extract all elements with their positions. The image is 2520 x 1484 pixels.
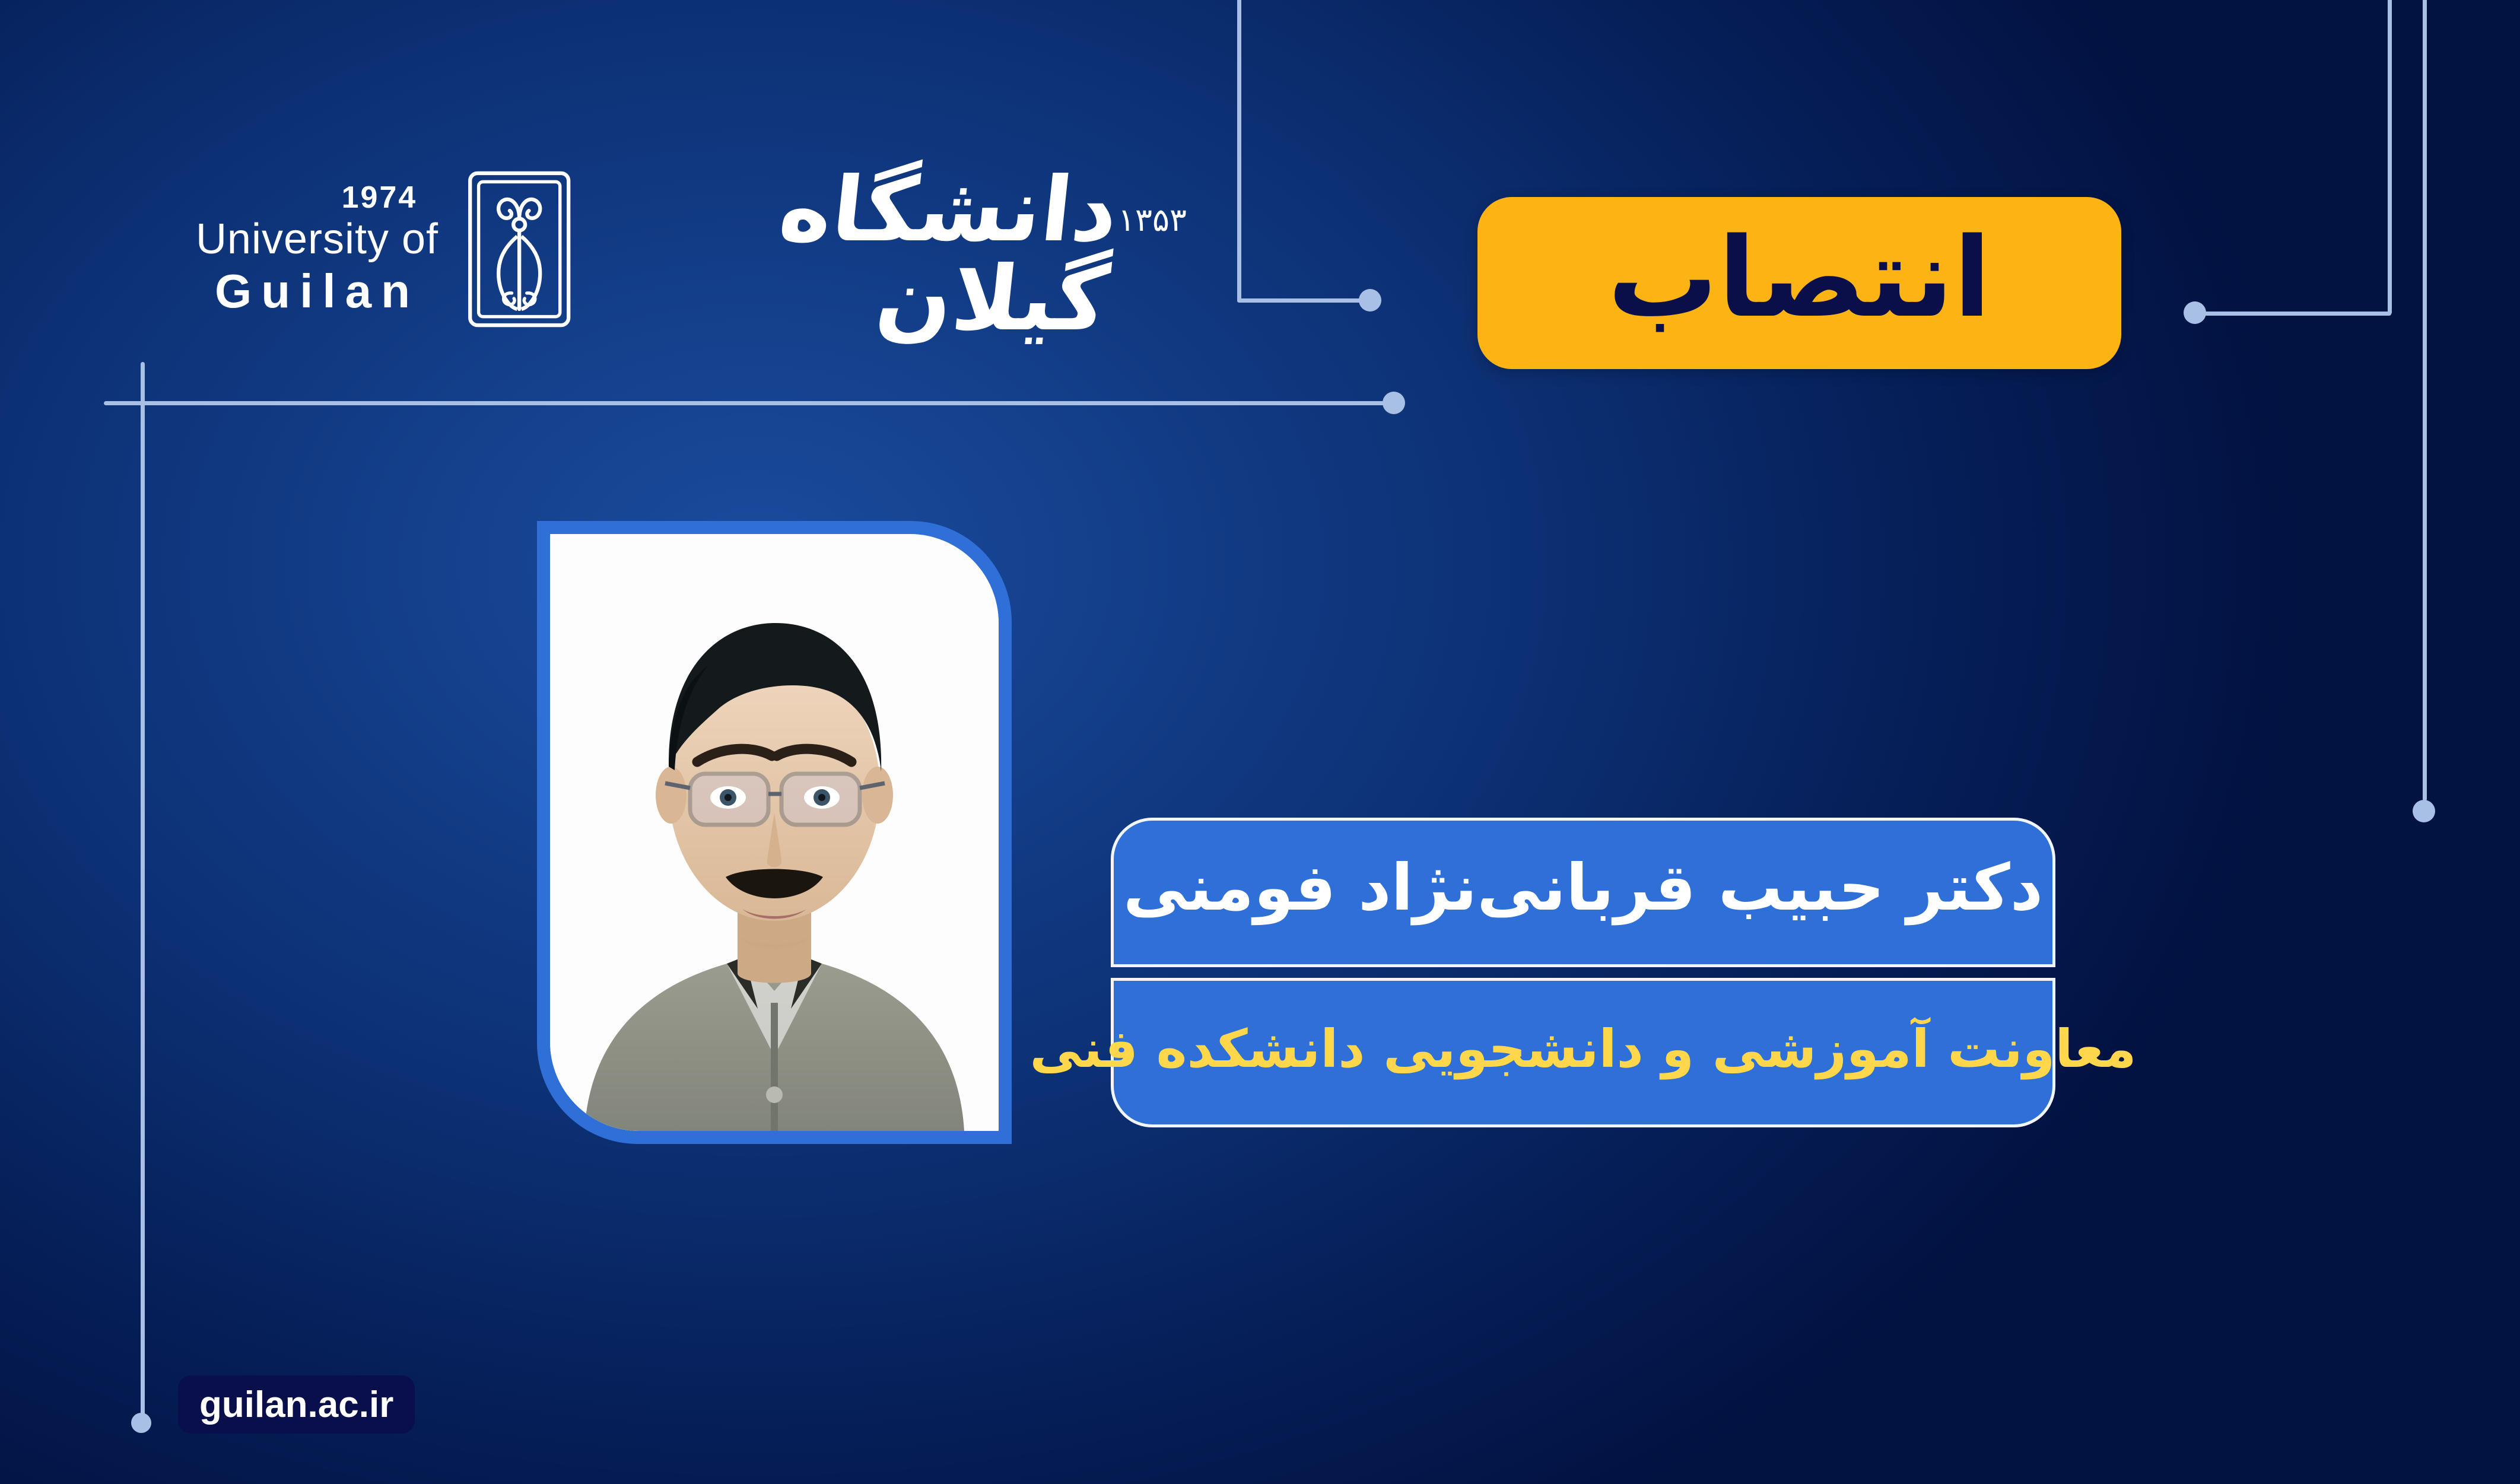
decor-dot-far-right-bottom [2413, 800, 2435, 822]
decor-line-top-horizontal [104, 401, 1397, 405]
decor-dot-top-right-end [1383, 392, 1405, 414]
appointee-name-label: دکتر حبیب قربانی‌نژاد فومنی [1123, 856, 2043, 929]
website-url-badge[interactable]: guilan.ac.ir [178, 1375, 415, 1434]
appointee-name-box: دکتر حبیب قربانی‌نژاد فومنی [1111, 818, 2055, 967]
poster-canvas: 1974 University of Guilan ۱۳۵۳ دانشگاه گ… [0, 0, 2520, 1484]
decor-dot-left-bottom [131, 1413, 151, 1433]
logo-english-text: 1974 University of Guilan [178, 180, 456, 319]
logo-founded-year-persian: ۱۳۵۳ [1118, 201, 1187, 239]
appointment-title-badge: انتصاب [1477, 197, 2121, 369]
decor-dot-right-elbow [2184, 301, 2206, 324]
logo-english-line2: Guilan [178, 264, 456, 319]
decor-line-left-vertical [141, 362, 145, 1424]
decor-line-right-vertical [2388, 0, 2392, 314]
logo-persian-text: ۱۳۵۳ دانشگاه گیلان [579, 155, 1187, 344]
logo-founded-year-gregorian: 1974 [303, 180, 456, 215]
website-url-label: guilan.ac.ir [199, 1384, 393, 1426]
appointee-role-label: معاونت آموزشی و دانشجویی دانشکده فنی [1029, 1023, 2136, 1082]
portrait-frame [537, 521, 1012, 1144]
decor-line-right-elbow [2195, 312, 2391, 316]
portrait-illustration [550, 534, 999, 1131]
university-logo: 1974 University of Guilan ۱۳۵۳ دانشگاه گ… [178, 151, 1187, 347]
guilan-emblem-icon [466, 160, 573, 338]
decor-dot-upper-elbow [1359, 289, 1381, 312]
logo-persian-name: دانشگاه گیلان [570, 166, 1123, 344]
decor-line-far-right-vertical [2423, 0, 2427, 801]
portrait-photo [550, 534, 999, 1131]
logo-english-line1: University of [178, 218, 456, 260]
decor-line-upper-vertical [1237, 0, 1241, 303]
appointment-title-label: انتصاب [1607, 223, 1991, 344]
appointee-role-box: معاونت آموزشی و دانشجویی دانشکده فنی [1111, 978, 2055, 1127]
decor-line-upper-elbow [1237, 298, 1371, 303]
